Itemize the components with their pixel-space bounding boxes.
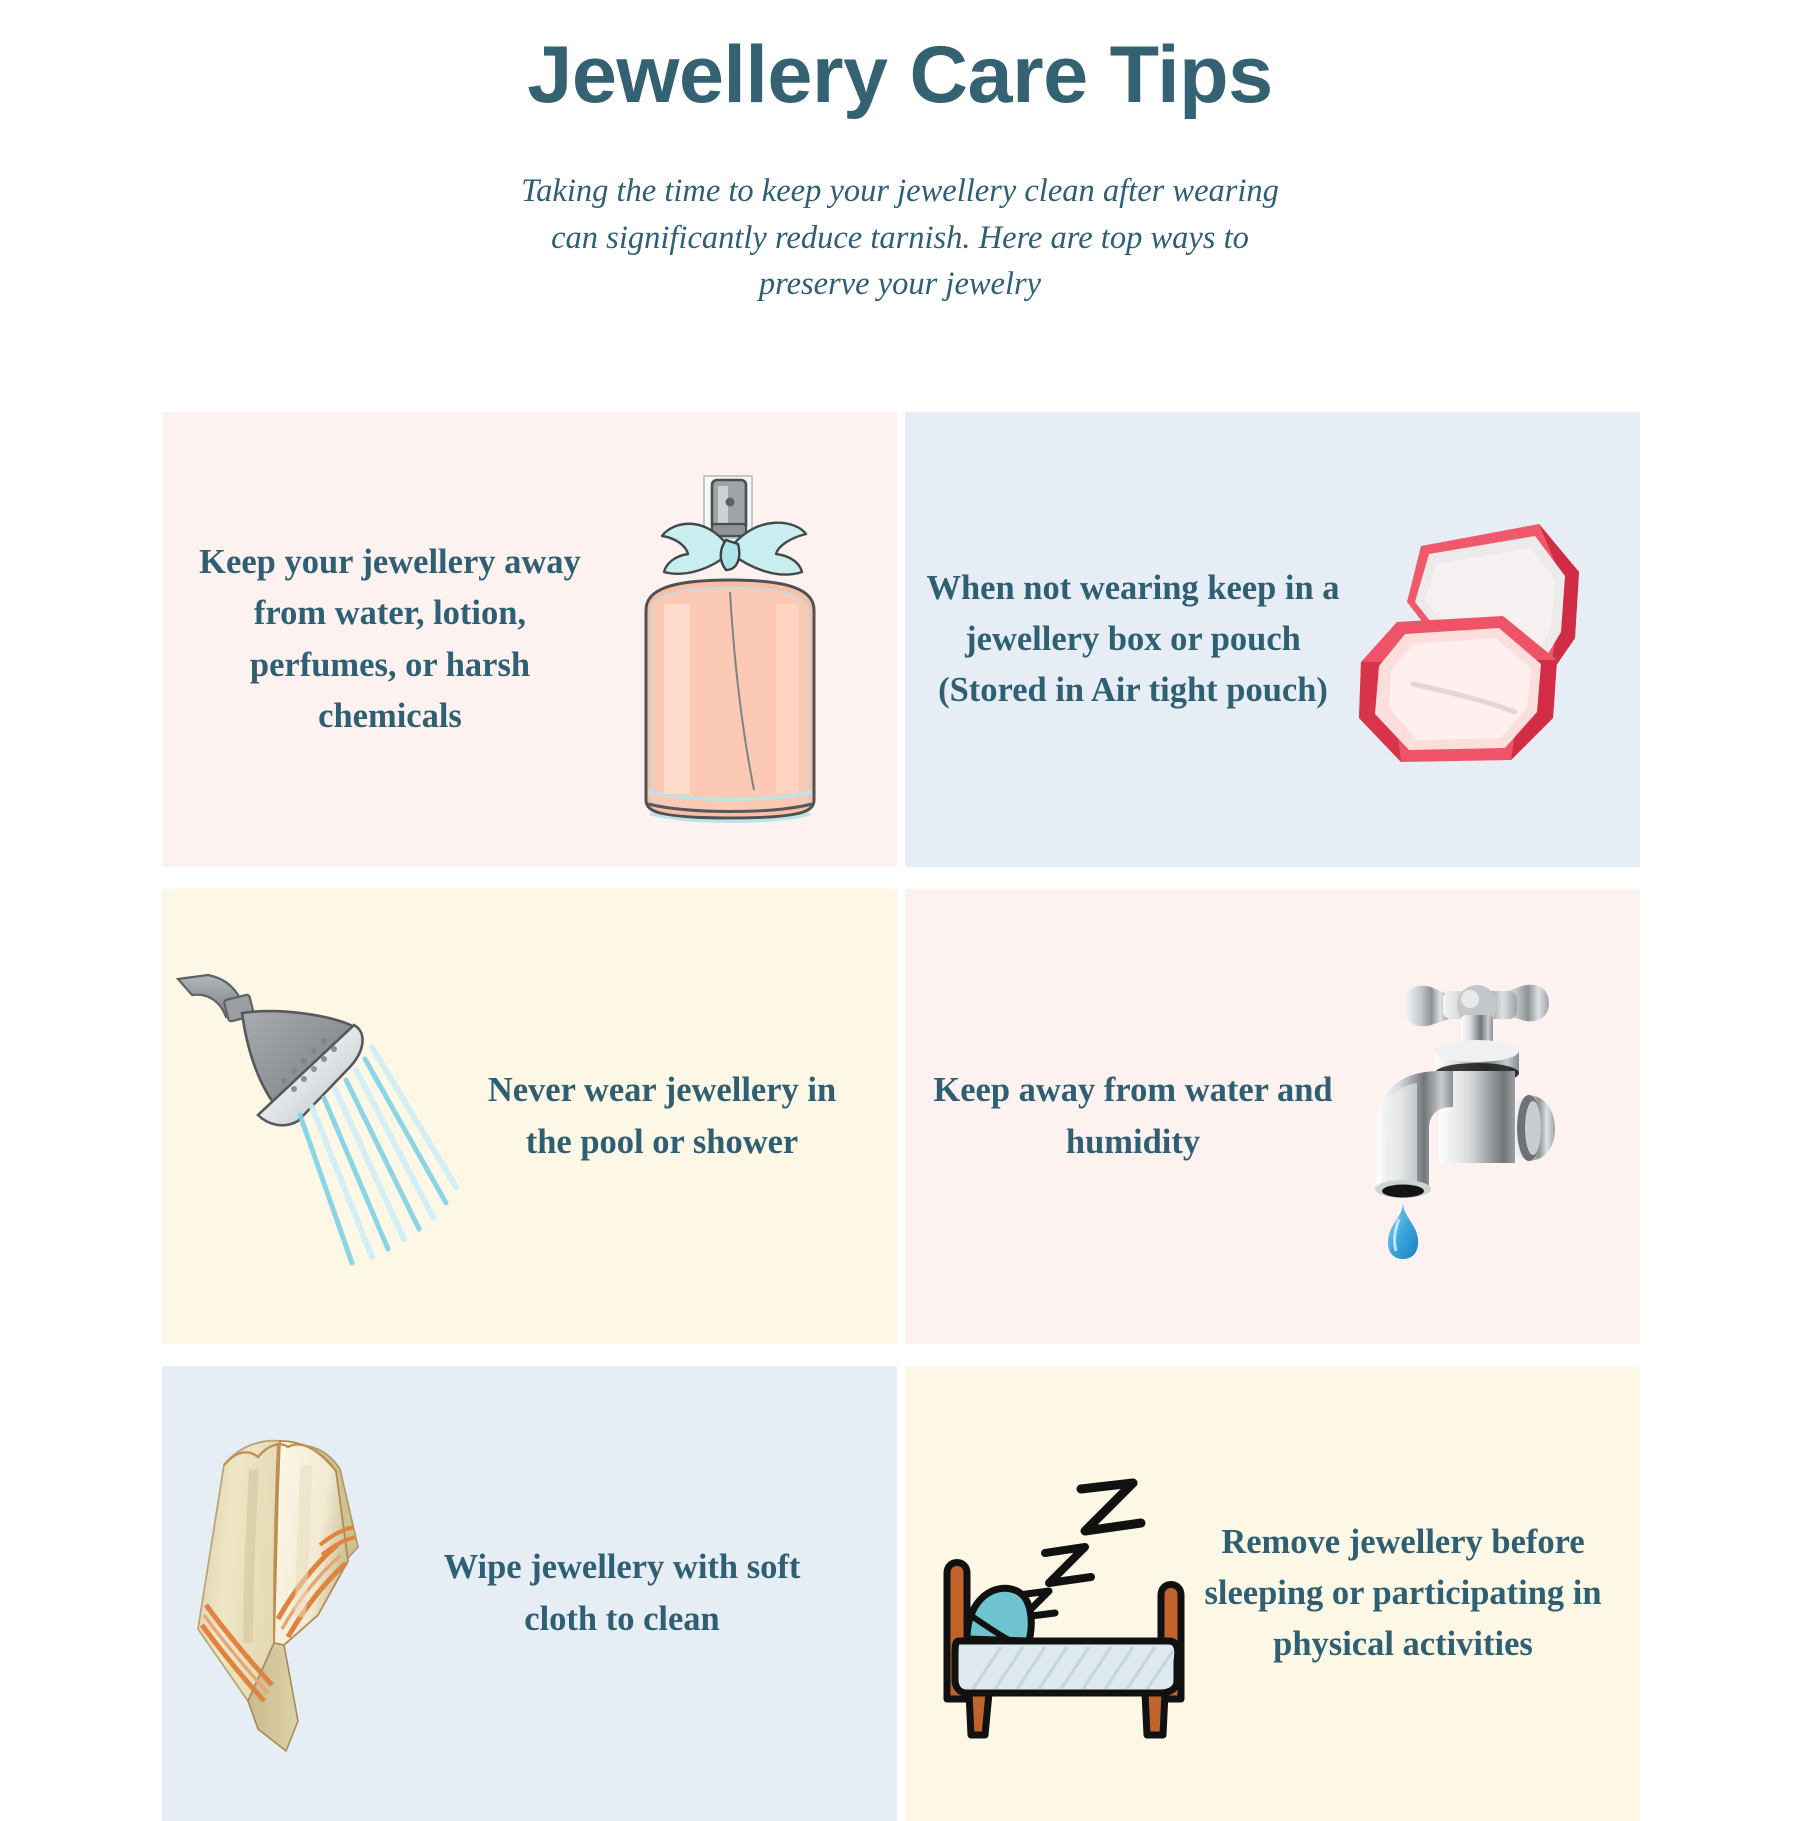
card-no-pool-or-shower-text: Never wear jewellery in the pool or show… <box>462 1065 862 1167</box>
perfume-bottle-icon <box>600 440 850 840</box>
card-store-in-box: When not wearing keep in a jewellery box… <box>905 412 1640 867</box>
bed-sleeping-icon <box>933 1449 1203 1739</box>
card-wipe-with-cloth: Wipe jewellery with soft cloth to clean <box>162 1366 897 1821</box>
card-avoid-water-humidity-text: Keep away from water and humidity <box>923 1065 1343 1167</box>
faucet-icon <box>1343 967 1623 1267</box>
shower-head-icon <box>172 967 462 1267</box>
page-subtitle: Taking the time to keep your jewellery c… <box>500 168 1300 308</box>
jewellery-box-icon <box>1343 510 1603 770</box>
tips-grid: Keep your jewellery away from water, lot… <box>162 412 1640 1821</box>
card-remove-before-sleep-text: Remove jewellery before sleeping or part… <box>1203 1517 1603 1670</box>
card-no-pool-or-shower: Never wear jewellery in the pool or show… <box>162 889 897 1344</box>
infographic-page: Jewellery Care Tips Taking the time to k… <box>0 0 1800 1800</box>
card-away-from-chemicals-text: Keep your jewellery away from water, lot… <box>180 537 600 741</box>
card-away-from-chemicals: Keep your jewellery away from water, lot… <box>162 412 897 867</box>
card-wipe-with-cloth-text: Wipe jewellery with soft cloth to clean <box>422 1542 822 1644</box>
page-title: Jewellery Care Tips <box>0 30 1800 121</box>
card-remove-before-sleep: Remove jewellery before sleeping or part… <box>905 1366 1640 1821</box>
header: Jewellery Care Tips Taking the time to k… <box>0 0 1800 308</box>
card-avoid-water-humidity: Keep away from water and humidity <box>905 889 1640 1344</box>
soft-cloth-icon <box>162 1429 422 1759</box>
card-store-in-box-text: When not wearing keep in a jewellery box… <box>923 563 1343 716</box>
